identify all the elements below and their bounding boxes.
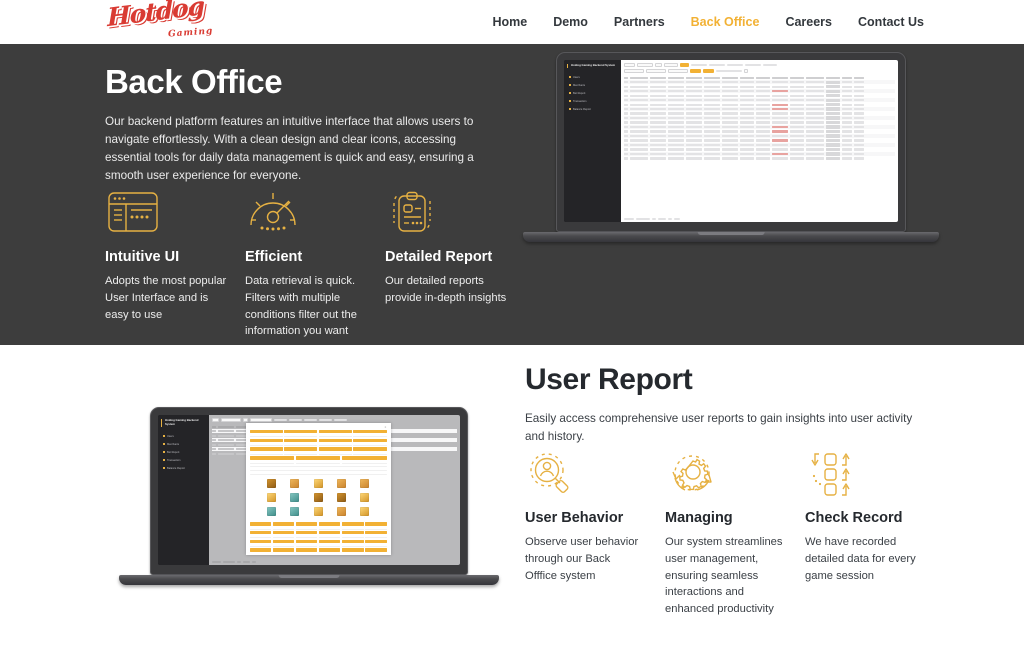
table-row[interactable] [624,125,895,128]
slot-symbol-cell: · [308,479,329,491]
bullet-icon [569,100,571,102]
table-row[interactable] [624,143,895,146]
back-office-feature-list: Intuitive UI Adopts the most popular Use… [105,189,525,340]
slot-symbol-icon [314,493,323,502]
feature-title: Efficient [245,249,385,265]
feature-title: Intuitive UI [105,249,245,265]
slot-symbol-icon [360,493,369,502]
filter-input[interactable] [221,418,241,422]
table-row[interactable] [624,98,895,101]
feature-efficient: Efficient Data retrieval is quick. Filte… [245,189,385,340]
table-row[interactable] [624,157,895,160]
modal-header-row [250,447,387,450]
filter-tab[interactable] [274,419,287,421]
slot-symbol-cell: · [262,507,283,519]
checkbox-label [716,70,742,72]
feature-body: We have recorded detailed data for every… [805,534,925,584]
gear-refresh-icon [665,450,805,498]
table-row[interactable] [624,89,895,92]
table-row[interactable] [624,148,895,151]
table-row[interactable] [624,152,895,155]
laptop-base [119,575,499,585]
slot-symbol-icon [360,507,369,516]
dashboard-table [624,76,895,215]
slot-symbol-icon [290,493,299,502]
table-row[interactable] [624,130,895,133]
laptop-mockup-back-office: Hotdog Gaming Backend System Users Merch… [556,52,906,242]
checkbox[interactable] [744,69,748,73]
table-row[interactable] [624,80,895,83]
feature-body: Our detailed reports provide in-depth in… [385,273,507,307]
modal-section-value [250,466,387,467]
slot-symbol-cell: · [262,479,283,491]
table-row[interactable] [624,94,895,97]
site-header: Hotdog Gaming Home Demo Partners Back Of… [0,0,1024,44]
slot-symbol-icon [290,479,299,488]
page-title: Back Office [105,64,505,100]
slot-symbol-icon [337,479,346,488]
slot-symbol-icon [337,507,346,516]
bullet-icon [569,76,571,78]
close-icon[interactable]: ✕ [384,426,386,429]
nav-item-careers[interactable]: Careers [785,15,832,29]
page-description: Our backend platform features an intuiti… [105,113,500,184]
laptop-trackpad-notch [279,575,340,578]
modal-value-row [250,435,387,438]
feature-title: Detailed Report [385,249,525,265]
slot-symbol-icon [267,507,276,516]
feature-user-behavior: User Behavior Observe user behavior thro… [525,450,665,618]
modal-header-row [250,531,387,534]
slot-symbol-cell: · [285,479,306,491]
dashboard-content [621,60,898,222]
slot-symbol-icon [290,507,299,516]
modal-value-row [250,461,387,464]
feature-check-record: Check Record We have recorded detailed d… [805,450,945,618]
section-description: Easily access comprehensive user reports… [525,410,933,445]
dashboard-filter-bar-2 [624,69,895,73]
filter-input[interactable] [668,69,688,73]
main-navigation: Home Demo Partners Back Office Careers C… [492,0,924,44]
bullet-icon [163,443,165,445]
slot-symbol-icon [267,479,276,488]
search-button[interactable] [680,63,689,67]
filter-select[interactable] [624,63,635,67]
filter-tab[interactable] [709,64,725,66]
back-office-section: Back Office Our backend platform feature… [0,44,1024,345]
dashboard-nav-label: Balance Report [167,467,185,470]
filter-input[interactable] [664,63,678,67]
user-report-feature-list: User Behavior Observe user behavior thro… [525,450,945,618]
game-round-detail-modal: ✕ · [246,423,391,555]
logo-tagline: Gaming [168,26,214,39]
nav-item-back-office[interactable]: Back Office [691,15,760,29]
dashboard-nav-label: Bet Report [167,451,179,454]
dashboard-nav-item[interactable]: Users [161,434,206,439]
modal-section-value [250,470,387,471]
slot-symbol-icon [314,479,323,488]
dashboard-pagination[interactable] [624,217,895,220]
slot-symbol-cell: · [262,493,283,505]
user-report-copy: User Report Easily access comprehensive … [525,363,945,445]
bullet-icon [569,92,571,94]
dashboard-filter-bar [624,63,895,67]
bullet-icon [163,451,165,453]
nav-item-demo[interactable]: Demo [553,15,588,29]
dashboard-brand: Hotdog Gaming Backend System [567,64,618,68]
laptop-screen-dashboard: Hotdog Gaming Backend System Users Merch… [564,60,898,222]
filter-tab[interactable] [691,64,707,66]
feature-body: Data retrieval is quick. Filters with mu… [245,273,367,340]
dashboard-nav-label: Users [573,76,580,79]
clipboard-report-icon [385,189,525,237]
dashboard-brand: Hotdog Gaming Backend System [161,419,206,427]
filter-stepper[interactable] [243,418,248,422]
modal-header-row [250,522,387,525]
slot-symbol-icon [337,493,346,502]
filter-stepper[interactable] [655,63,662,67]
nav-item-contact-us[interactable]: Contact Us [858,15,924,29]
nav-item-home[interactable]: Home [492,15,527,29]
filter-tab[interactable] [289,419,302,421]
bullet-icon [163,459,165,461]
dashboard-nav-label: Transaction [573,100,586,103]
slot-symbol-icon [360,479,369,488]
filter-tab[interactable] [304,419,317,421]
laptop-screen-user-report: Hotdog Gaming Backend System Users Merch… [158,415,460,565]
slot-symbol-cell: · [354,493,375,505]
dashboard-nav-item[interactable]: Merchants [567,83,618,88]
dashboard-nav-label: Bet Report [573,92,585,95]
speedometer-icon [245,189,385,237]
bullet-icon [569,84,571,86]
slot-symbol-cell: · [285,493,306,505]
table-row[interactable] [624,116,895,119]
dashboard-nav-label: Merchants [167,443,179,446]
dashboard-nav-label: Transaction [167,459,180,462]
user-magnifier-icon [525,450,665,498]
feature-detailed-report: Detailed Report Our detailed reports pro… [385,189,525,340]
slot-symbol-grid: · · · · · · · · · · · · · · · [250,476,387,521]
filter-tab[interactable] [319,419,332,421]
feature-title: Check Record [805,510,945,526]
dashboard-pagination[interactable] [212,560,457,563]
filter-input[interactable] [637,63,653,67]
filter-tab[interactable] [763,64,777,66]
slot-symbol-cell: · [331,507,352,519]
laptop-mockup-user-report: Hotdog Gaming Backend System Users Merch… [150,407,468,585]
table-row[interactable] [624,139,895,142]
laptop-lid: Hotdog Gaming Backend System Users Merch… [150,407,468,575]
modal-value-row [250,527,387,530]
dashboard-nav-label: Balance Report [573,108,591,111]
bullet-icon [163,435,165,437]
dashboard-nav-item[interactable]: Balance Report [161,466,206,471]
feature-body: Our system streamlines user management, … [665,534,785,618]
dashboard-nav-item[interactable]: Bet Report [567,91,618,96]
laptop-trackpad-notch [698,232,765,235]
slot-symbol-cell: · [308,507,329,519]
modal-header-row [250,540,387,543]
slot-symbol-cell: · [308,493,329,505]
dashboard-filter-bar [212,418,457,422]
slot-symbol-icon [267,493,276,502]
dashboard-sidebar: Hotdog Gaming Backend System Users Merch… [564,60,621,222]
dashboard-nav-label: Users [167,435,174,438]
feature-body: Adopts the most popular User Interface a… [105,273,227,323]
bullet-icon [163,467,165,469]
section-title: User Report [525,363,945,397]
dashboard-nav-item[interactable]: Transaction [567,99,618,104]
dashboard-nav-item[interactable]: Users [567,75,618,80]
feature-managing: Managing Our system streamlines user man… [665,450,805,618]
modal-header-row [250,430,387,433]
table-row[interactable] [624,134,895,137]
filter-select[interactable] [212,418,219,422]
filter-tab[interactable] [745,64,761,66]
filter-tab[interactable] [334,419,347,421]
feature-title: User Behavior [525,510,665,526]
dashboard-nav-label: Merchants [573,84,585,87]
dashboard-nav-item[interactable]: Bet Report [161,450,206,455]
feature-intuitive-ui: Intuitive UI Adopts the most popular Use… [105,189,245,340]
table-row[interactable] [624,112,895,115]
table-row[interactable] [624,85,895,88]
record-list-icon [805,450,945,498]
filter-select[interactable] [624,69,644,73]
modal-value-row [250,536,387,539]
back-office-copy: Back Office Our backend platform feature… [105,64,505,184]
table-row[interactable] [624,103,895,106]
filter-select[interactable] [646,69,666,73]
table-row[interactable] [624,107,895,110]
feature-title: Managing [665,510,805,526]
feature-body: Observe user behavior through our Back O… [525,534,645,584]
slot-symbol-cell: · [285,507,306,519]
modal-header-row [250,439,387,442]
reset-button[interactable] [703,69,714,73]
modal-header-row [250,456,387,459]
dashboard-nav-item[interactable]: Transaction [161,458,206,463]
modal-value-row [250,545,387,548]
dashboard-preview: Hotdog Gaming Backend System Users Merch… [564,60,898,222]
modal-header-row [250,548,387,551]
table-header-row [624,76,895,79]
laptop-base [523,232,939,242]
dashboard-sidebar: Hotdog Gaming Backend System Users Merch… [158,415,209,565]
modal-value-row [250,553,387,554]
nav-item-partners[interactable]: Partners [614,15,665,29]
filter-input[interactable] [250,418,272,422]
slot-symbol-cell: · [354,507,375,519]
slot-symbol-cell: · [331,479,352,491]
table-row[interactable] [624,121,895,124]
modal-section-value [250,474,387,475]
filter-tab[interactable] [727,64,743,66]
bullet-icon [569,108,571,110]
modal-value-row [250,443,387,446]
modal-value-row [250,452,387,455]
ui-window-icon [105,189,245,237]
user-report-section: User Report Easily access comprehensive … [0,345,1024,657]
export-button[interactable] [690,69,701,73]
slot-symbol-icon [314,507,323,516]
laptop-lid: Hotdog Gaming Backend System Users Merch… [556,52,906,232]
slot-symbol-cell: · [331,493,352,505]
slot-symbol-cell: · [354,479,375,491]
site-logo[interactable]: Hotdog Gaming [105,1,255,43]
dashboard-nav-item[interactable]: Merchants [161,442,206,447]
dashboard-nav-item[interactable]: Balance Report [567,107,618,112]
